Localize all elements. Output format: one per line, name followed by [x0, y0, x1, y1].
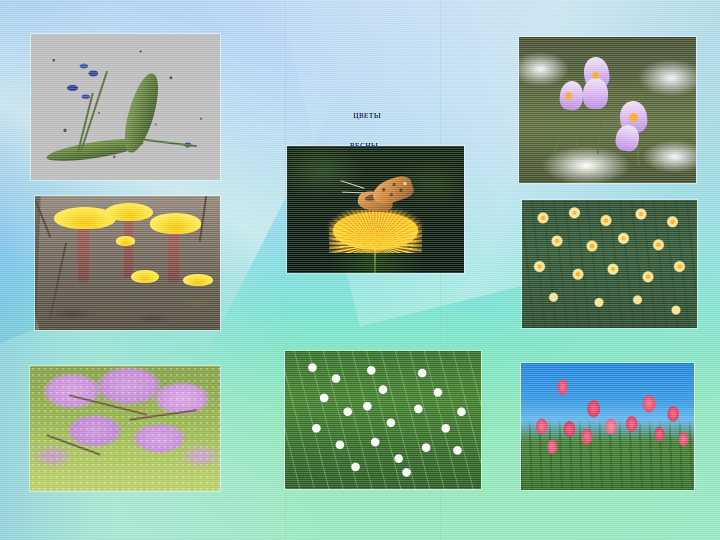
slide-title: ЦВЕТЫ ВЕСНЫ	[345, 101, 381, 171]
lily-bell-flowers	[285, 351, 481, 489]
photo-scilla	[31, 34, 220, 180]
coltsfoot-bloom-5	[183, 274, 213, 286]
slide-title-line-2: ВЕСНЫ	[345, 141, 381, 151]
photo-crocus-image	[519, 37, 696, 183]
coltsfoot-stalk-3	[168, 231, 179, 282]
photo-tulip-image	[521, 363, 694, 490]
photo-lilac-image	[30, 366, 220, 491]
photo-lily-of-the-valley-image	[285, 351, 481, 489]
presentation-slide: ЦВЕТЫ ВЕСНЫ	[0, 0, 720, 540]
photo-tulip	[521, 363, 694, 490]
photo-coltsfoot-image	[35, 196, 220, 330]
crocus-stamen-2	[565, 92, 572, 99]
dandelion-petal-rays	[329, 210, 421, 253]
photo-lilac	[30, 366, 220, 491]
butterfly-antenna-1	[341, 180, 365, 189]
photo-coltsfoot	[35, 196, 220, 330]
coltsfoot-bloom-4	[131, 270, 159, 283]
crocus-stamen-1	[592, 72, 599, 79]
coltsfoot-stalk-1	[78, 225, 89, 281]
photo-daffodil-image	[522, 200, 697, 328]
crocus-stamen-3	[629, 113, 638, 122]
coltsfoot-stalk-2	[124, 219, 133, 278]
photo-crocus	[519, 37, 696, 183]
tulip-blooms	[521, 363, 694, 490]
daffodil-coronas	[522, 200, 697, 328]
slide-title-line-1: ЦВЕТЫ	[353, 112, 381, 120]
photo-daffodil	[522, 200, 697, 328]
photo-scilla-image	[31, 34, 220, 180]
crocus-flower-3	[582, 77, 608, 109]
lilac-floret-texture	[30, 366, 220, 491]
coltsfoot-bloom-2	[105, 203, 153, 222]
photo-lily-of-the-valley	[285, 351, 481, 489]
coltsfoot-bloom-6	[116, 236, 135, 245]
crocus-blade-4	[553, 116, 564, 156]
coltsfoot-bloom-3	[150, 213, 202, 233]
